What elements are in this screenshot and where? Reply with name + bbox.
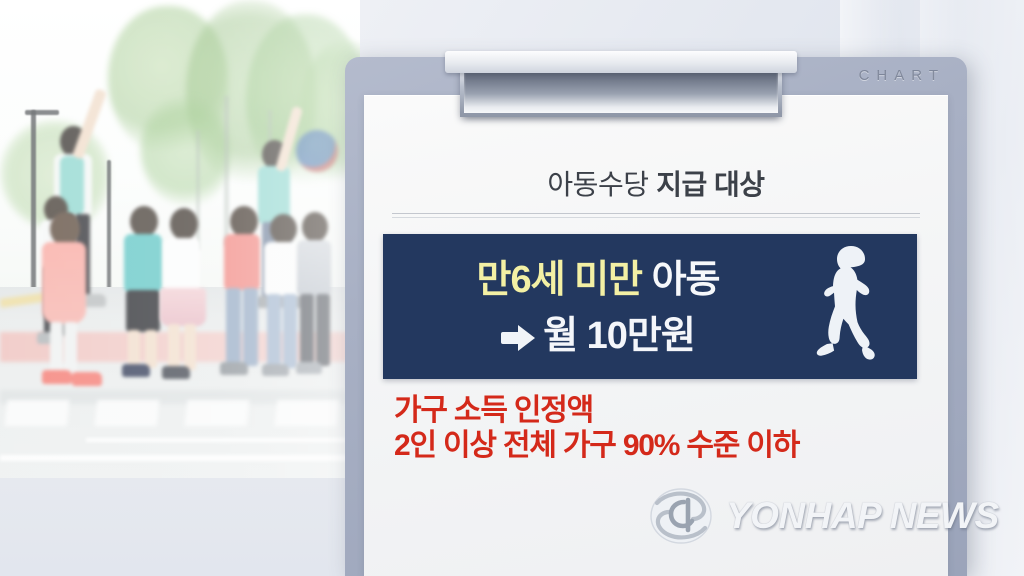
title-divider-top xyxy=(392,213,920,214)
background-photo xyxy=(0,0,360,478)
watermark-text: YONHAP NEWS xyxy=(726,495,999,537)
highlight-box: 만6세 미만 아동 월 10만원 xyxy=(383,234,917,379)
photo-fade-overlay xyxy=(0,0,360,478)
page-title: 아동수당 지급 대상 xyxy=(364,163,948,203)
condition-line-1: 가구 소득 인정액 xyxy=(394,393,928,428)
chart-emboss-label: CHART xyxy=(859,67,945,84)
title-light-part: 아동수당 xyxy=(547,169,648,200)
highlight-age-text: 만6세 미만 xyxy=(476,259,642,301)
title-bold-part: 지급 대상 xyxy=(656,169,764,200)
highlight-line-1: 만6세 미만 아동 xyxy=(383,248,813,303)
infographic-root: CHART 아동수당 지급 대상 만6세 미만 아동 월 10만원 xyxy=(0,0,1024,576)
title-divider-bottom xyxy=(392,217,920,218)
condition-text-block: 가구 소득 인정액 2인 이상 전체 가구 90% 수준 이하 xyxy=(394,393,928,464)
right-arrow-icon xyxy=(501,325,535,351)
condition-line-2: 2인 이상 전체 가구 90% 수준 이하 xyxy=(394,428,928,463)
clip-top-bar xyxy=(445,51,797,73)
yonhap-swirl-logo-icon xyxy=(648,483,714,549)
highlight-line-2: 월 10만원 xyxy=(383,304,813,359)
walking-child-silhouette-icon xyxy=(813,244,893,372)
highlight-amount-text: 월 10만원 xyxy=(543,315,695,357)
watermark: YONHAP NEWS xyxy=(648,480,988,552)
photo-bottom-band xyxy=(0,478,360,576)
highlight-target-text: 아동 xyxy=(652,259,720,301)
